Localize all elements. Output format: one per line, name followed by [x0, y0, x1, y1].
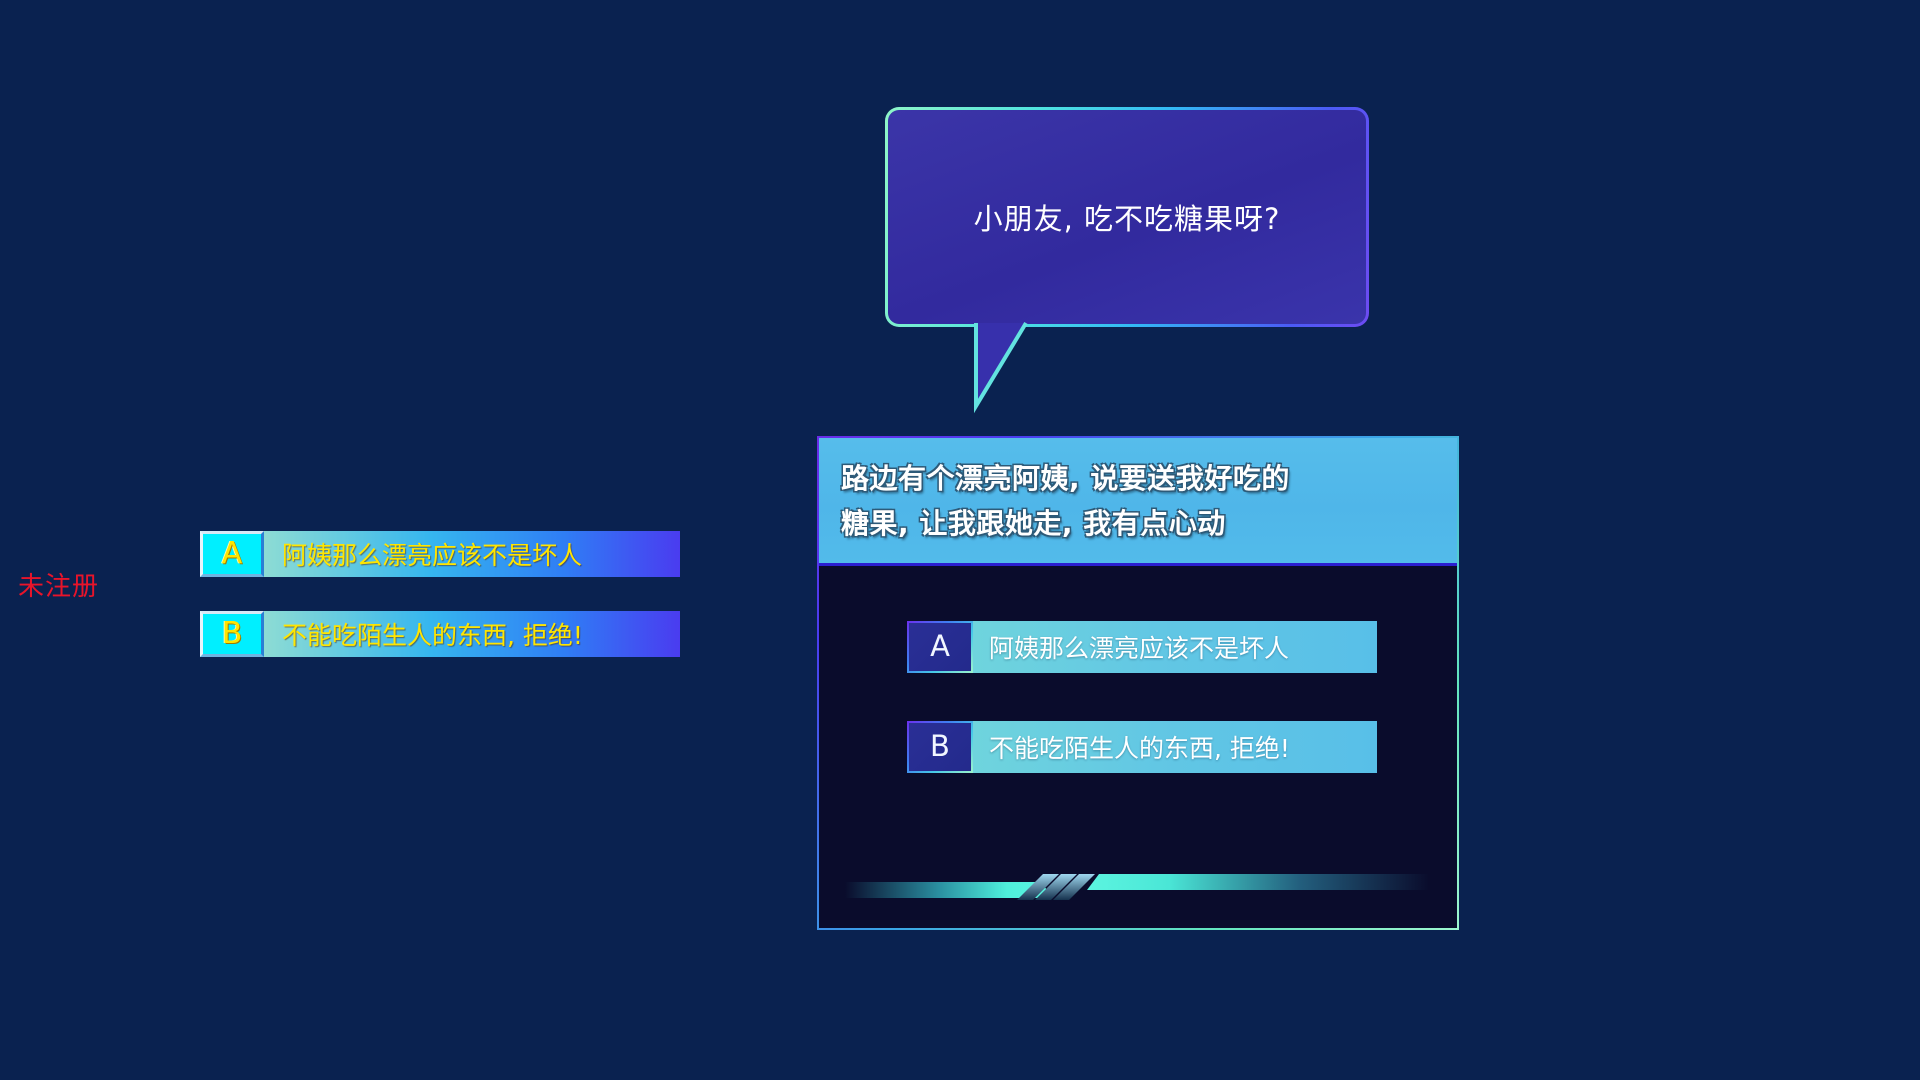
unregistered-watermark: 未注册 — [18, 566, 99, 603]
answer-option-b-badge: B — [907, 721, 973, 773]
overlay-option-b-text[interactable]: 不能吃陌生人的东西, 拒绝! — [264, 611, 680, 657]
overlay-option-a-text[interactable]: 阿姨那么漂亮应该不是坏人 — [264, 531, 680, 577]
speech-bubble-text: 小朋友, 吃不吃糖果呀? — [974, 196, 1281, 238]
answer-option-b[interactable]: B 不能吃陌生人的东西, 拒绝! — [907, 721, 1377, 773]
question-text-line-2: 糖果, 让我跟她走, 我有点心动 — [841, 501, 1435, 546]
answer-option-b-badge-inner: B — [909, 723, 971, 771]
answer-option-a-text[interactable]: 阿姨那么漂亮应该不是坏人 — [973, 621, 1377, 673]
answer-option-a-badge-inner: A — [909, 623, 971, 671]
chevron-stripes-divider-icon — [837, 860, 1437, 902]
speech-bubble: 小朋友, 吃不吃糖果呀? — [885, 107, 1369, 327]
overlay-option-b-badge: B — [200, 611, 264, 657]
speech-bubble-tail-icon — [973, 323, 1029, 409]
answer-option-a-badge: A — [907, 621, 973, 673]
question-panel-inner: 路边有个漂亮阿姨, 说要送我好吃的 糖果, 让我跟她走, 我有点心动 A 阿姨那… — [819, 438, 1457, 928]
answer-option-b-text[interactable]: 不能吃陌生人的东西, 拒绝! — [973, 721, 1377, 773]
question-text-line-1: 路边有个漂亮阿姨, 说要送我好吃的 — [841, 456, 1435, 501]
question-header: 路边有个漂亮阿姨, 说要送我好吃的 糖果, 让我跟她走, 我有点心动 — [819, 438, 1457, 566]
overlay-options-list: A 阿姨那么漂亮应该不是坏人 B 不能吃陌生人的东西, 拒绝! — [200, 531, 680, 691]
overlay-option-a[interactable]: A 阿姨那么漂亮应该不是坏人 — [200, 531, 680, 577]
question-panel: 路边有个漂亮阿姨, 说要送我好吃的 糖果, 让我跟她走, 我有点心动 A 阿姨那… — [817, 436, 1459, 930]
speech-bubble-body: 小朋友, 吃不吃糖果呀? — [888, 110, 1366, 324]
answer-option-a-letter: A — [930, 632, 950, 661]
speech-bubble-frame: 小朋友, 吃不吃糖果呀? — [885, 107, 1369, 327]
answer-option-a-label: 阿姨那么漂亮应该不是坏人 — [989, 629, 1289, 665]
overlay-option-a-letter: A — [222, 539, 243, 569]
screen-root: 未注册 A 阿姨那么漂亮应该不是坏人 B 不能吃陌生人的东西, 拒绝! 小朋友,… — [0, 0, 1920, 1080]
overlay-option-b-letter: B — [222, 619, 243, 649]
answer-option-a[interactable]: A 阿姨那么漂亮应该不是坏人 — [907, 621, 1377, 673]
overlay-option-b-label: 不能吃陌生人的东西, 拒绝! — [282, 616, 583, 652]
answer-option-b-label: 不能吃陌生人的东西, 拒绝! — [989, 729, 1290, 765]
overlay-option-a-badge: A — [200, 531, 264, 577]
answer-option-b-letter: B — [930, 732, 950, 761]
overlay-option-a-label: 阿姨那么漂亮应该不是坏人 — [282, 536, 582, 572]
overlay-option-b[interactable]: B 不能吃陌生人的东西, 拒绝! — [200, 611, 680, 657]
question-body: A 阿姨那么漂亮应该不是坏人 B 不能吃陌生人的东西, 拒绝! — [819, 566, 1457, 928]
